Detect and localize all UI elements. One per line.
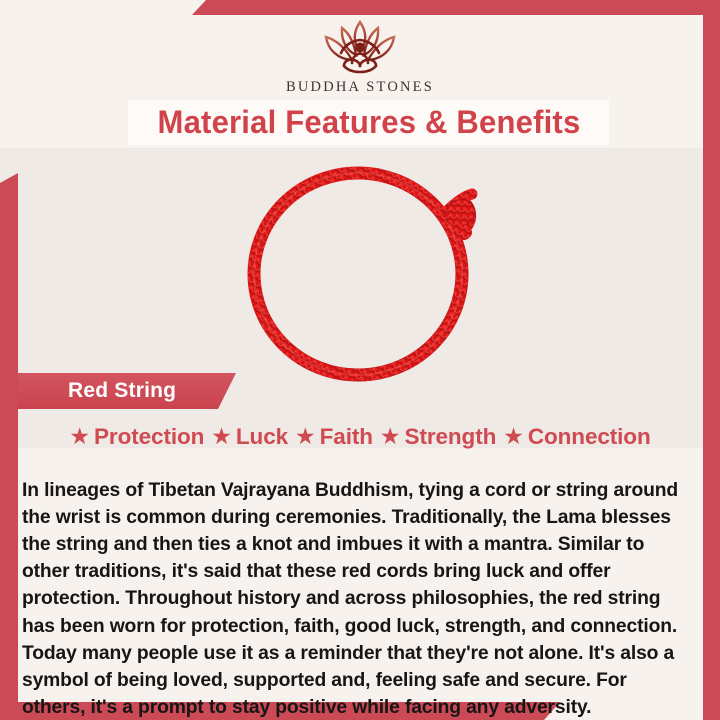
brand-block: BUDDHA STONES bbox=[0, 18, 720, 96]
benefit-label: Strength bbox=[405, 424, 497, 450]
benefit-item-connection: ★ Connection bbox=[503, 424, 650, 450]
red-string-bracelet-illustration bbox=[232, 156, 494, 384]
decorative-bar-right bbox=[703, 0, 720, 720]
product-name-banner: Red String bbox=[18, 373, 236, 409]
product-image bbox=[232, 156, 494, 384]
star-icon: ★ bbox=[380, 425, 401, 448]
decorative-bar-top bbox=[192, 0, 720, 15]
page-title: Material Features & Benefits bbox=[157, 104, 580, 141]
benefits-row: ★ Protection ★ Luck ★ Faith ★ Strength ★… bbox=[22, 419, 698, 455]
benefit-item-protection: ★ Protection bbox=[69, 424, 204, 450]
benefit-item-strength: ★ Strength bbox=[380, 424, 496, 450]
benefit-label: Faith bbox=[320, 424, 373, 450]
product-name-label: Red String bbox=[68, 379, 176, 403]
star-icon: ★ bbox=[503, 425, 524, 448]
brand-name: BUDDHA STONES bbox=[0, 79, 720, 96]
benefit-label: Protection bbox=[94, 424, 204, 450]
benefit-label: Connection bbox=[528, 424, 651, 450]
infographic-card: BUDDHA STONES Material Features & Benefi… bbox=[0, 0, 720, 720]
star-icon: ★ bbox=[295, 425, 316, 448]
headline-banner: Material Features & Benefits bbox=[128, 100, 609, 145]
star-icon: ★ bbox=[69, 425, 90, 448]
lotus-meditation-icon bbox=[306, 18, 414, 76]
benefit-label: Luck bbox=[236, 424, 288, 450]
star-icon: ★ bbox=[211, 425, 232, 448]
decorative-bar-left bbox=[0, 173, 18, 720]
description-text: In lineages of Tibetan Vajrayana Buddhis… bbox=[22, 477, 688, 720]
benefit-item-faith: ★ Faith bbox=[295, 424, 373, 450]
benefit-item-luck: ★ Luck bbox=[211, 424, 288, 450]
